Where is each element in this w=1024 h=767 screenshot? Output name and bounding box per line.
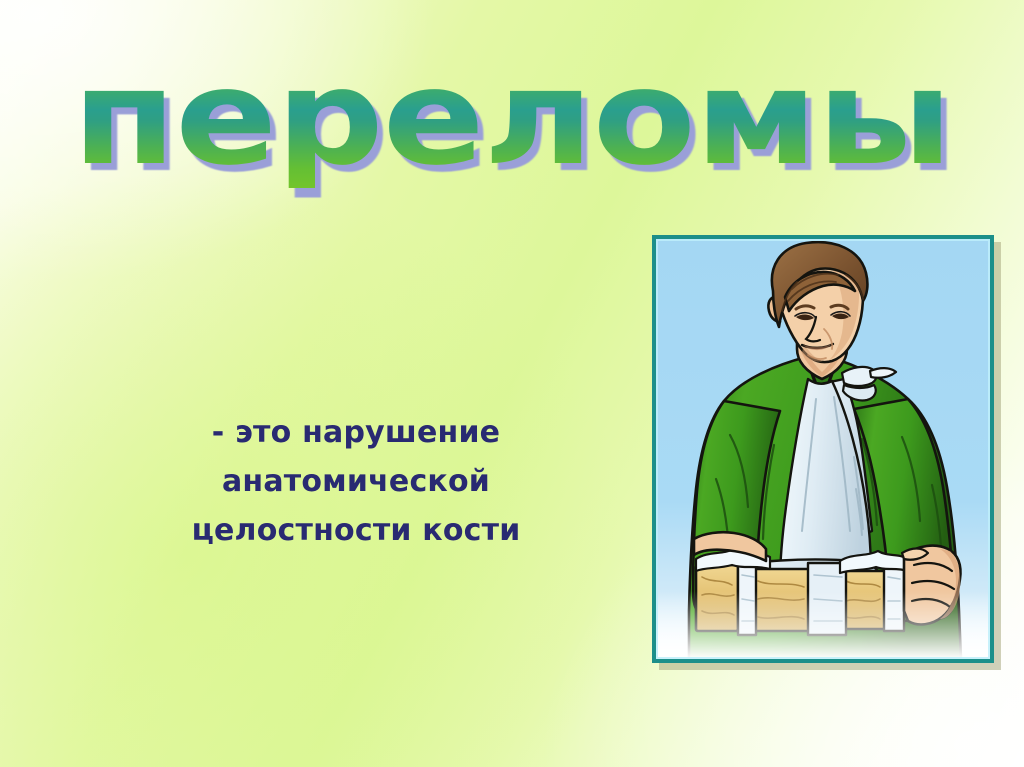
- slide-title-text: переломы: [0, 48, 1024, 188]
- body-line-1: - это нарушение: [96, 408, 616, 457]
- slide-title: переломы переломы: [0, 48, 1024, 198]
- injured-man-illustration: [656, 239, 990, 659]
- slide-body-text: - это нарушение анатомической целостност…: [96, 408, 616, 555]
- illustration-frame: [652, 235, 994, 663]
- body-line-3: целостности кости: [96, 506, 616, 555]
- body-line-2: анатомической: [96, 457, 616, 506]
- illustration-image: [656, 239, 990, 659]
- slide-canvas: переломы переломы - это нарушение анатом…: [0, 0, 1024, 767]
